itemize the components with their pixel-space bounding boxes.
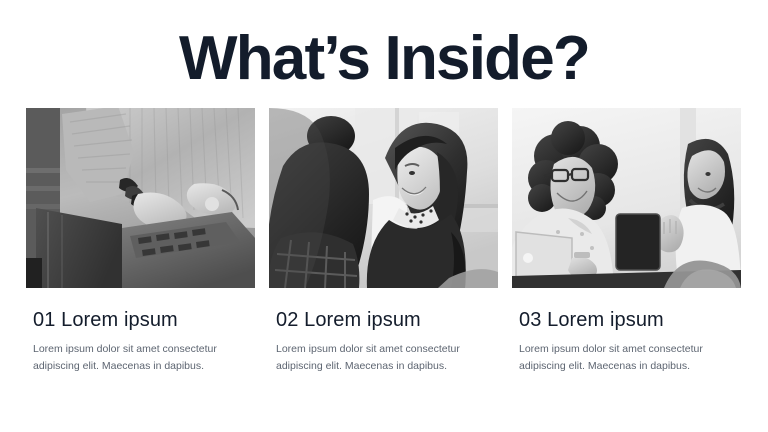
card-1[interactable]: 01 Lorem ipsum Lorem ipsum dolor sit ame… [26, 108, 255, 376]
card-2-photo [269, 108, 498, 288]
card-1-heading: 01 Lorem ipsum [33, 309, 255, 332]
card-2-heading: 02 Lorem ipsum [276, 309, 498, 332]
smiling-woman-photo-icon [269, 108, 498, 288]
card-1-photo [26, 108, 255, 288]
page-title: What’s Inside? [0, 26, 768, 91]
card-1-text: 01 Lorem ipsum Lorem ipsum dolor sit ame… [26, 309, 255, 376]
card-2[interactable]: 02 Lorem ipsum Lorem ipsum dolor sit ame… [269, 108, 498, 376]
laptop-typing-photo-icon [26, 108, 255, 288]
card-3-photo [512, 108, 741, 288]
card-3-text: 03 Lorem ipsum Lorem ipsum dolor sit ame… [512, 309, 741, 376]
cards-row: 01 Lorem ipsum Lorem ipsum dolor sit ame… [26, 108, 742, 376]
card-3-body: Lorem ipsum dolor sit amet consectetur a… [519, 341, 727, 376]
presentation-slide: What’s Inside? [0, 0, 768, 432]
card-3-heading: 03 Lorem ipsum [519, 309, 741, 332]
card-1-body: Lorem ipsum dolor sit amet consectetur a… [33, 341, 241, 376]
card-3[interactable]: 03 Lorem ipsum Lorem ipsum dolor sit ame… [512, 108, 741, 376]
two-women-meeting-photo-icon [512, 108, 741, 288]
card-2-text: 02 Lorem ipsum Lorem ipsum dolor sit ame… [269, 309, 498, 376]
card-2-body: Lorem ipsum dolor sit amet consectetur a… [276, 341, 484, 376]
